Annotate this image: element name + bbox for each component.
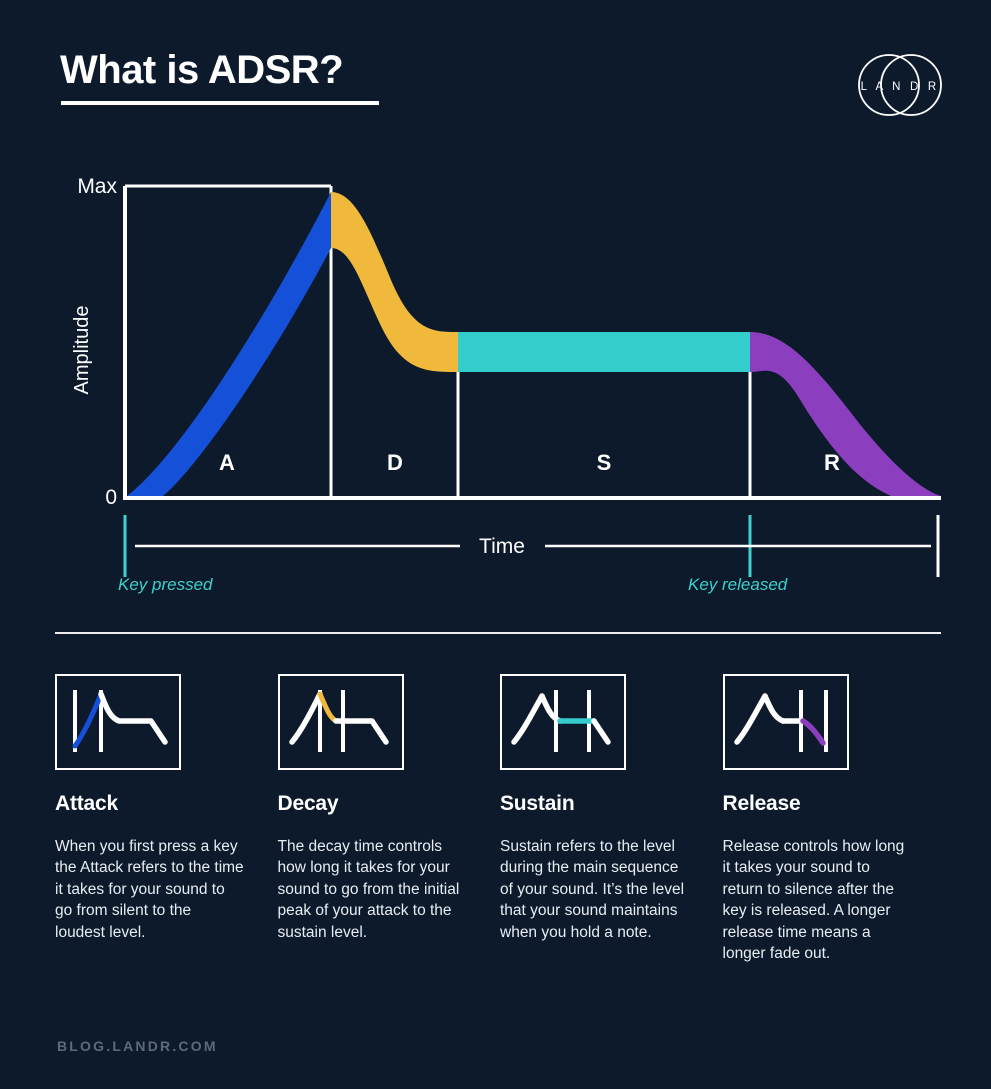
card-title-release: Release [723,792,946,816]
card-sustain: Sustain Sustain refers to the level duri… [500,674,723,964]
key-released-label: Key released [688,575,787,595]
phase-label-s: S [597,450,612,475]
page-title: What is ADSR? [60,48,343,93]
attack-envelope-icon [55,674,181,770]
card-body-decay: The decay time controls how long it take… [278,836,468,943]
decay-envelope-icon [278,674,404,770]
phase-label-d: D [387,450,403,475]
svg-text:L A N D R: L A N D R [861,81,940,93]
y-axis-max-label: Max [77,175,117,198]
card-decay: Decay The decay time controls how long i… [278,674,501,964]
phase-label-r: R [824,450,840,475]
card-title-sustain: Sustain [500,792,723,816]
decay-curve [331,192,458,372]
phase-label-a: A [219,450,235,475]
card-title-decay: Decay [278,792,501,816]
card-body-release: Release controls how long it takes your … [723,836,913,964]
card-body-attack: When you first press a key the Attack re… [55,836,245,943]
release-envelope-icon [723,674,849,770]
title-underline [61,101,379,105]
sustain-band [458,332,750,372]
sustain-envelope-icon [500,674,626,770]
release-curve [750,332,941,496]
x-axis-title: Time [479,535,525,558]
section-divider [55,632,941,634]
landr-logo: L A N D R [855,40,945,130]
card-attack: Attack When you first press a key the At… [55,674,278,964]
y-axis-title: Amplitude [71,306,93,395]
card-release: Release Release controls how long it tak… [723,674,946,964]
card-body-sustain: Sustain refers to the level during the m… [500,836,690,943]
phase-cards: Attack When you first press a key the At… [55,674,945,964]
footer-url: BLOG.LANDR.COM [57,1038,218,1054]
key-pressed-label: Key pressed [118,575,213,595]
card-title-attack: Attack [55,792,278,816]
infographic-page: What is ADSR? L A N D R Max 0 Amplitude [0,0,991,1089]
adsr-envelope-chart: Max 0 Amplitude A D S R [55,160,945,520]
